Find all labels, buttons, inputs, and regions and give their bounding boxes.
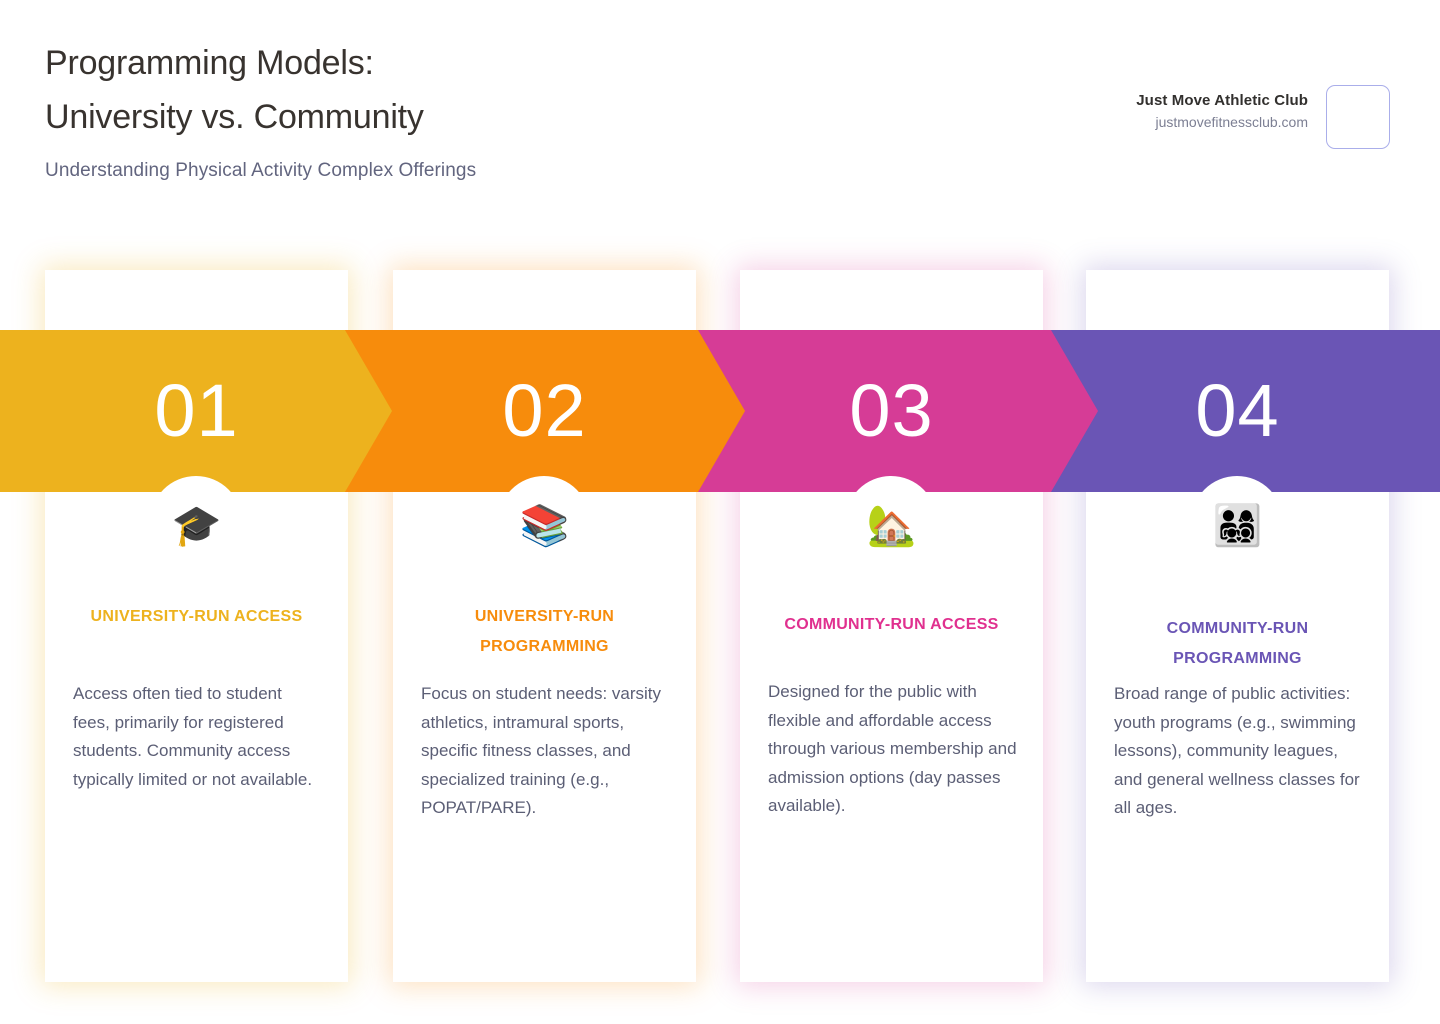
page-title-line-1: Programming Models: [45, 36, 476, 90]
step-card-1-title: UNIVERSITY-RUN ACCESS [67, 602, 326, 632]
step-card-1-surface: UNIVERSITY-RUN ACCESS Access often tied … [45, 270, 348, 982]
step-card-3-body: Designed for the public with flexible an… [768, 678, 1018, 821]
brand-url[interactable]: justmovefitnessclub.com [1136, 114, 1308, 130]
brand-block: Just Move Athletic Club justmovefitnessc… [1136, 85, 1390, 149]
page-title: Programming Models: University vs. Commu… [45, 36, 476, 182]
page-subtitle: Understanding Physical Activity Complex … [45, 160, 476, 182]
infographic-page: Programming Models: University vs. Commu… [0, 0, 1440, 1024]
step-card-2-body: Focus on student needs: varsity athletic… [421, 680, 671, 823]
step-card-3-title: COMMUNITY-RUN ACCESS [762, 610, 1021, 640]
step-card-3[interactable]: COMMUNITY-RUN ACCESS Designed for the pu… [740, 270, 1043, 982]
step-card-2[interactable]: UNIVERSITY-RUN PROGRAMMING Focus on stud… [393, 270, 696, 982]
page-title-line-2: University vs. Community [45, 90, 476, 144]
step-card-1[interactable]: UNIVERSITY-RUN ACCESS Access often tied … [45, 270, 348, 982]
step-card-4-title: COMMUNITY-RUN PROGRAMMING [1108, 614, 1367, 674]
step-card-2-surface: UNIVERSITY-RUN PROGRAMMING Focus on stud… [393, 270, 696, 982]
brand-text: Just Move Athletic Club justmovefitnessc… [1136, 85, 1308, 130]
step-card-3-surface: COMMUNITY-RUN ACCESS Designed for the pu… [740, 270, 1043, 982]
brand-name: Just Move Athletic Club [1136, 92, 1308, 109]
step-card-4-surface: COMMUNITY-RUN PROGRAMMING Broad range of… [1086, 270, 1389, 982]
step-card-4-body: Broad range of public activities: youth … [1114, 680, 1364, 823]
brand-logo-placeholder-icon [1326, 85, 1390, 149]
step-card-2-title: UNIVERSITY-RUN PROGRAMMING [415, 602, 674, 662]
steps-container: UNIVERSITY-RUN ACCESS Access often tied … [0, 270, 1440, 985]
step-card-4[interactable]: COMMUNITY-RUN PROGRAMMING Broad range of… [1086, 270, 1389, 982]
page-header: Programming Models: University vs. Commu… [0, 0, 1440, 230]
step-card-1-body: Access often tied to student fees, prima… [73, 680, 323, 794]
